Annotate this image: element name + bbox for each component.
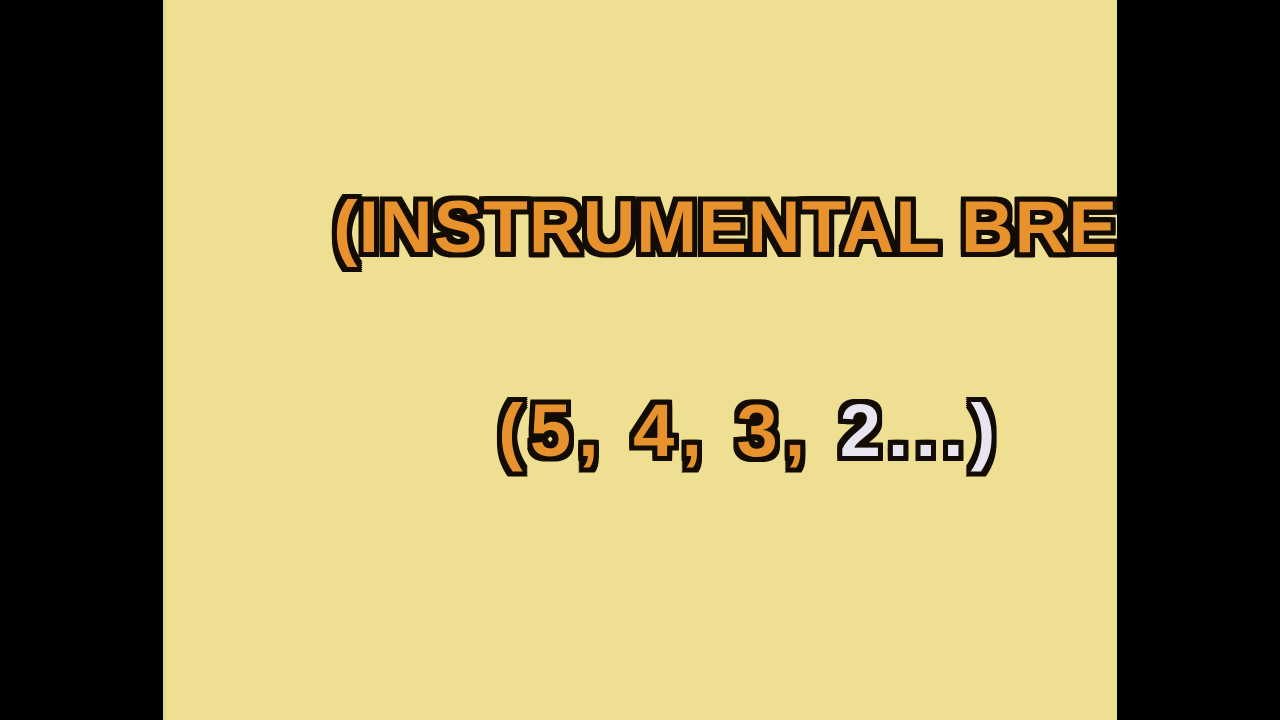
lyric-line-1-segment-sung: (INSTRUMENTAL BREAK) bbox=[333, 187, 1251, 268]
karaoke-video-frame: (INSTRUMENTAL BREAK) (5, 4, 3, 2...) bbox=[0, 0, 1280, 720]
lyric-line-2: (5, 4, 3, 2...) bbox=[163, 320, 1117, 542]
video-picture-area: (INSTRUMENTAL BREAK) (5, 4, 3, 2...) bbox=[163, 0, 1117, 720]
lyric-line-2-segment-unsung: 2...) bbox=[840, 389, 1002, 472]
pillarbox-left bbox=[0, 0, 163, 720]
lyric-stack: (INSTRUMENTAL BREAK) (5, 4, 3, 2...) bbox=[163, 0, 1117, 720]
lyric-line-2-segment-sung: (5, 4, 3, bbox=[498, 389, 839, 472]
pillarbox-right bbox=[1117, 0, 1280, 720]
lyric-line-1: (INSTRUMENTAL BREAK) bbox=[163, 118, 1117, 337]
